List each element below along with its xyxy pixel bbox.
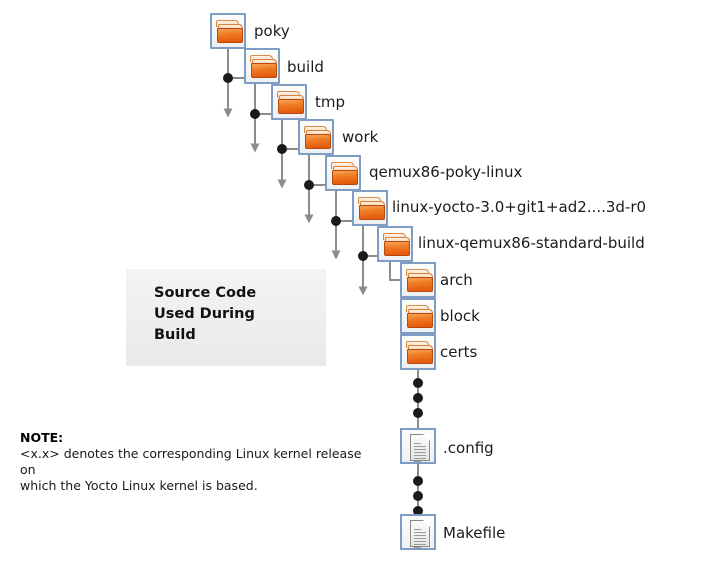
node-label-linux-yocto: linux-yocto-3.0+git1+ad2....3d-r0	[392, 198, 646, 216]
node-qemux86-poky-linux[interactable]	[325, 155, 361, 191]
folder-icon	[271, 84, 307, 120]
document-icon	[400, 514, 436, 550]
node-makefile[interactable]	[400, 514, 436, 550]
note-title: NOTE:	[20, 430, 380, 446]
node-poky[interactable]	[210, 13, 246, 49]
folder-icon	[352, 190, 388, 226]
node-config[interactable]	[400, 428, 436, 464]
node-label-certs: certs	[440, 343, 477, 361]
node-label-tmp: tmp	[315, 93, 345, 111]
node-label-work: work	[342, 128, 378, 146]
node-label-build: build	[287, 58, 324, 76]
node-build[interactable]	[244, 48, 280, 84]
note-block: NOTE: <x.x> denotes the corresponding Li…	[20, 430, 380, 494]
source-code-callout: Source Code Used During Build	[126, 269, 326, 366]
document-icon	[400, 428, 436, 464]
folder-icon	[244, 48, 280, 84]
node-work[interactable]	[298, 119, 334, 155]
node-label-config: .config	[443, 439, 494, 457]
node-label-qemux86-poky-linux: qemux86-poky-linux	[369, 163, 522, 181]
node-tmp[interactable]	[271, 84, 307, 120]
folder-icon	[325, 155, 361, 191]
node-label-arch: arch	[440, 271, 473, 289]
node-block[interactable]	[400, 298, 436, 334]
note-body: <x.x> denotes the corresponding Linux ke…	[20, 446, 380, 494]
node-linux-qemux86-standard-build[interactable]	[377, 226, 413, 262]
node-certs[interactable]	[400, 334, 436, 370]
node-arch[interactable]	[400, 262, 436, 298]
node-label-makefile: Makefile	[443, 524, 505, 542]
folder-icon	[400, 298, 436, 334]
folder-icon	[400, 334, 436, 370]
folder-icon	[400, 262, 436, 298]
diagram-canvas: poky build tmp	[0, 0, 705, 581]
node-linux-yocto[interactable]	[352, 190, 388, 226]
node-label-poky: poky	[254, 22, 290, 40]
folder-icon	[298, 119, 334, 155]
source-code-callout-text: Source Code Used During Build	[154, 283, 256, 346]
folder-icon	[377, 226, 413, 262]
node-label-linux-qemux86-standard-build: linux-qemux86-standard-build	[418, 234, 645, 252]
node-label-block: block	[440, 307, 480, 325]
folder-icon	[210, 13, 246, 49]
